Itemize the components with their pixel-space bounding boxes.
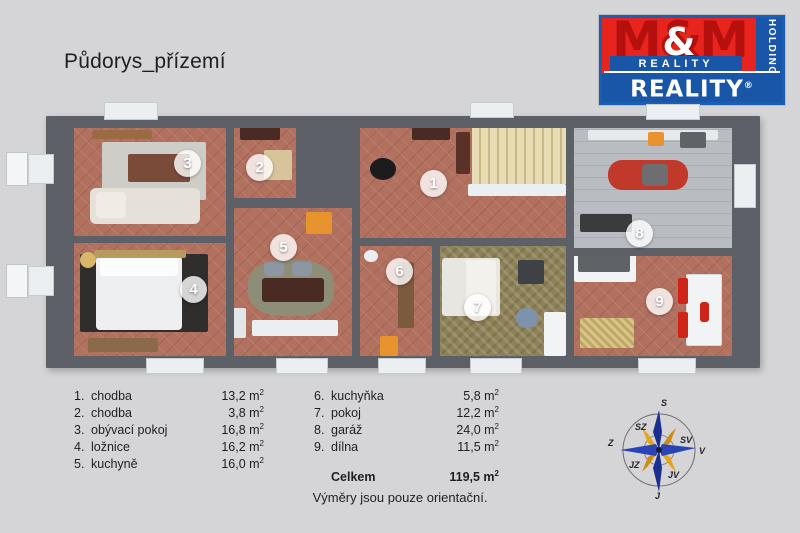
sink xyxy=(364,250,378,262)
compass-label-north: S xyxy=(661,398,667,408)
legend-number: 1. xyxy=(74,389,91,403)
console xyxy=(412,128,450,140)
room-7-pokoj xyxy=(440,246,566,356)
legend-room-name: kuchyně xyxy=(91,457,208,471)
window-bottom-4[interactable] xyxy=(470,358,522,374)
legend-room-name: garáž xyxy=(331,423,443,437)
compass-label-west: Z xyxy=(608,438,614,448)
logo-holding-text: HOLDING xyxy=(762,19,780,73)
pillows xyxy=(100,258,178,276)
room-badge-4: 4 xyxy=(180,276,207,303)
legend-room-name: chodba xyxy=(91,389,208,403)
legend-area: 16,0 m2 xyxy=(208,456,264,471)
compass-label-southeast: JV xyxy=(668,470,679,480)
room-badge-2: 2 xyxy=(246,154,273,181)
legend-total-area: 119,5 m2 xyxy=(443,469,499,484)
legend-room-name: kuchyňka xyxy=(331,389,443,403)
legend-area: 11,5 m2 xyxy=(443,439,499,454)
compass-label-southwest: JZ xyxy=(629,460,640,470)
legend-area: 3,8 m2 xyxy=(208,405,264,420)
legend-row: 1. chodba 13,2 m2 xyxy=(74,388,264,405)
chair-right xyxy=(292,262,312,276)
legend-row: 9. dílna 11,5 m2 xyxy=(314,439,499,456)
legend-area: 5,8 m2 xyxy=(443,388,499,403)
cabinet xyxy=(240,128,280,140)
legend-number: 7. xyxy=(314,406,331,420)
legend-number: 8. xyxy=(314,423,331,437)
room-4-loznice xyxy=(74,242,226,356)
compass-label-northwest: SZ xyxy=(635,422,647,432)
logo-reality-big-text: REALITY xyxy=(630,77,744,103)
legend-room-name: obývací pokoj xyxy=(91,423,208,437)
nightstand xyxy=(80,252,96,268)
legend-row: 5. kuchyně 16,0 m2 xyxy=(74,456,264,473)
compass-point-w xyxy=(620,444,659,456)
registered-mark: ® xyxy=(744,81,754,91)
legend-row: 4. ložnice 16,2 m2 xyxy=(74,439,264,456)
legend-row: 6. kuchyňka 5,8 m2 xyxy=(314,388,499,405)
headboard xyxy=(94,250,186,258)
sideboard xyxy=(544,312,566,356)
legend-row: 7. pokoj 12,2 m2 xyxy=(314,405,499,422)
pouf xyxy=(516,308,538,328)
legend-number: 6. xyxy=(314,389,331,403)
window-top-1[interactable] xyxy=(104,102,158,120)
wall-vertical-a xyxy=(226,128,234,356)
wall-vertical-b xyxy=(352,128,360,356)
window-top-3[interactable] xyxy=(646,104,700,120)
fire-extinguisher xyxy=(700,302,709,322)
window-bottom-1[interactable] xyxy=(146,358,204,374)
shelf xyxy=(92,130,152,139)
legend-number: 5. xyxy=(74,457,91,471)
logo-reality-big: REALITY® xyxy=(604,71,780,99)
tv-panel xyxy=(518,260,544,284)
floor-plan: 3 2 1 8 5 6 4 7 9 xyxy=(46,116,760,368)
legend-area: 13,2 m2 xyxy=(208,388,264,403)
compass-label-south: J xyxy=(655,491,660,501)
room-badge-8: 8 xyxy=(626,220,653,247)
room-badge-6: 6 xyxy=(386,258,413,285)
wall-horizontal-d xyxy=(574,248,732,255)
room-1-chodba xyxy=(360,128,566,238)
wall-horizontal-c xyxy=(360,238,566,246)
legend-row: 8. garáž 24,0 m2 xyxy=(314,422,499,439)
staircase xyxy=(472,128,566,184)
compass-rose: S V J Z SV JV JZ SZ xyxy=(604,398,714,504)
legend-room-name: pokoj xyxy=(331,406,443,420)
window-left-lower[interactable] xyxy=(28,266,54,296)
legend-total-label: Celkem xyxy=(331,470,443,484)
wall-vertical-c xyxy=(566,128,574,356)
room-badge-3: 3 xyxy=(174,150,201,177)
legend-area: 16,8 m2 xyxy=(208,422,264,437)
legend-area: 24,0 m2 xyxy=(443,422,499,437)
legend-number: 2. xyxy=(74,406,91,420)
legend-total-row: Celkem 119,5 m2 xyxy=(314,469,499,486)
sofa-cushion xyxy=(96,192,126,218)
window-bottom-2[interactable] xyxy=(276,358,328,374)
legend-room-name: dílna xyxy=(331,440,443,454)
compass-label-east: V xyxy=(699,446,705,456)
legend-column-right: 6. kuchyňka 5,8 m2 7. pokoj 12,2 m2 8. g… xyxy=(314,388,499,486)
room-5-kuchyne xyxy=(234,208,352,356)
legend-number: 4. xyxy=(74,440,91,454)
shutter-left-lower[interactable] xyxy=(6,264,28,298)
orange-door xyxy=(380,336,398,356)
compass-svg xyxy=(604,398,714,504)
orange-cabinet xyxy=(306,212,332,234)
legend-row: 2. chodba 3,8 m2 xyxy=(74,405,264,422)
window-bottom-3[interactable] xyxy=(378,358,426,374)
room-badge-1: 1 xyxy=(420,170,447,197)
legend-room-name: chodba xyxy=(91,406,208,420)
counter xyxy=(252,320,338,336)
straw-bale xyxy=(580,318,634,348)
compass-label-northeast: SV xyxy=(680,435,692,445)
logo-reality-small: REALITY xyxy=(610,56,742,72)
window-left-upper[interactable] xyxy=(28,154,54,184)
window-right[interactable] xyxy=(734,164,756,208)
storage-bin xyxy=(680,132,706,148)
room-badge-7: 7 xyxy=(464,294,491,321)
tool-orange xyxy=(648,132,664,146)
dining-table xyxy=(262,278,324,302)
legend-area: 12,2 m2 xyxy=(443,405,499,420)
wall-vertical-d xyxy=(432,238,440,356)
red-toolbox-bottom xyxy=(678,312,688,338)
legend-area: 16,2 m2 xyxy=(208,439,264,454)
dresser xyxy=(88,338,158,352)
round-table xyxy=(370,158,396,180)
legend-row: 3. obývací pokoj 16,8 m2 xyxy=(74,422,264,439)
room-8-garaz xyxy=(574,128,732,250)
workbench xyxy=(580,214,632,232)
room-badge-9: 9 xyxy=(646,288,673,315)
wall-horizontal-a xyxy=(74,236,226,243)
room-3-obyvaci-pokoj xyxy=(74,128,226,238)
chair-left xyxy=(264,262,284,276)
page-title: Půdorys_přízemí xyxy=(64,50,226,74)
shutter-left-upper[interactable] xyxy=(6,152,28,186)
legend-number: 9. xyxy=(314,440,331,454)
company-logo: M&M & REALITY HOLDING REALITY® xyxy=(598,14,786,106)
legend-number: 3. xyxy=(74,423,91,437)
window-bottom-5[interactable] xyxy=(638,358,696,374)
car-windshield xyxy=(642,164,668,186)
compass-point-e xyxy=(659,444,696,456)
bench-top xyxy=(578,256,630,272)
stair-landing xyxy=(468,184,566,196)
fridge xyxy=(234,308,246,338)
room-badge-5: 5 xyxy=(270,234,297,261)
wall-horizontal-b xyxy=(234,198,352,205)
compass-center xyxy=(656,447,662,453)
red-toolbox-top xyxy=(678,278,688,304)
legend-column-left: 1. chodba 13,2 m2 2. chodba 3,8 m2 3. ob… xyxy=(74,388,264,473)
door-frame xyxy=(456,132,470,174)
legend-room-name: ložnice xyxy=(91,440,208,454)
window-top-2[interactable] xyxy=(470,102,514,118)
